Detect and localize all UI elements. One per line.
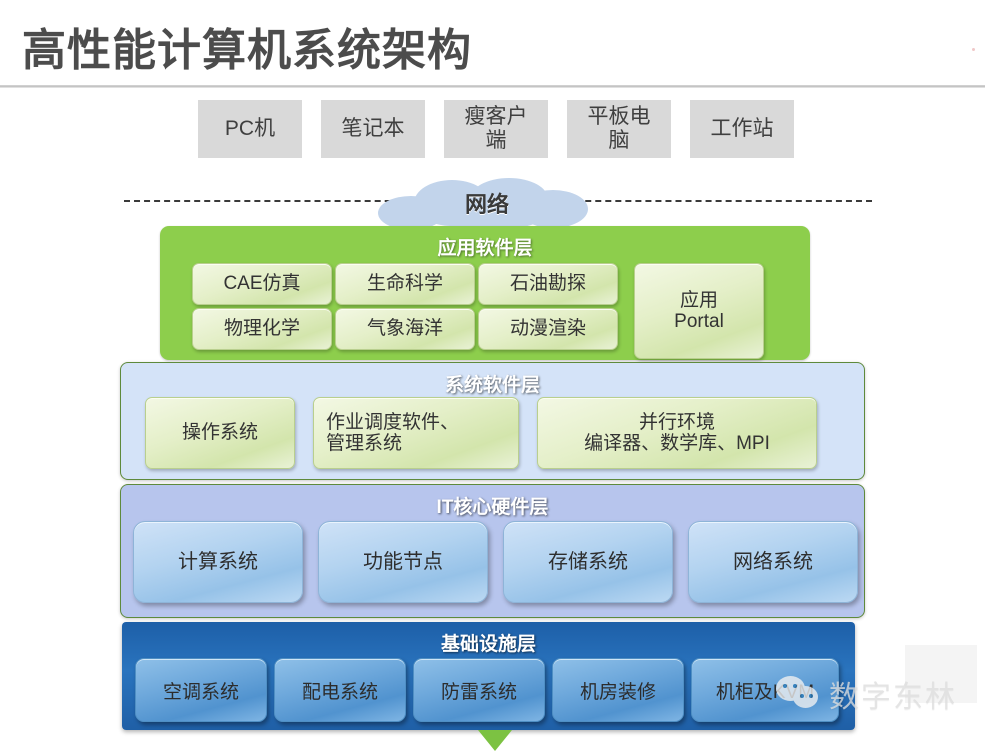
infrastructure-items: 空调系统 配电系统 防雷系统 机房装修 机柜及KVM	[135, 658, 839, 722]
layer-title: 系统软件层	[121, 363, 864, 397]
watermark: 数字东林	[776, 672, 957, 716]
portal-lines: 应用 Portal	[674, 290, 724, 333]
client-box-thin-client[interactable]: 瘦客户端	[444, 100, 548, 158]
down-arrow-icon	[478, 730, 512, 751]
hw-chip-function-node[interactable]: 功能节点	[318, 521, 488, 603]
layer-infrastructure[interactable]: 基础设施层 空调系统 配电系统 防雷系统 机房装修 机柜及KVM	[122, 622, 855, 730]
app-chip-oil-exploration[interactable]: 石油勘探	[478, 263, 618, 305]
client-device-row: PC机 笔记本 瘦客户端 平板电脑 工作站	[198, 100, 794, 158]
network-zone: 网络	[0, 178, 985, 230]
app-chip-physics-chemistry[interactable]: 物理化学	[192, 308, 332, 350]
infra-chip-power-distribution[interactable]: 配电系统	[274, 658, 406, 722]
client-label: 平板电脑	[588, 105, 651, 153]
infra-chip-hvac[interactable]: 空调系统	[135, 658, 267, 722]
title-bar: 高性能计算机系统架构	[0, 0, 985, 88]
layer-application-software[interactable]: 应用软件层 CAE仿真 生命科学 石油勘探 物理化学 气象海洋 动漫渲染 应用 …	[160, 226, 810, 360]
wechat-icon	[776, 674, 820, 714]
system-software-items: 操作系统 作业调度软件、 管理系统 并行环境 编译器、数学库、MPI	[145, 397, 817, 469]
client-label: 工作站	[711, 117, 774, 141]
watermark-text: 数字东林	[829, 672, 957, 716]
sys-chip-operating-system[interactable]: 操作系统	[145, 397, 295, 469]
client-label: PC机	[225, 117, 275, 141]
layer-title: IT核心硬件层	[121, 485, 864, 519]
infra-chip-lightning-protection[interactable]: 防雷系统	[413, 658, 545, 722]
hw-chip-compute-system[interactable]: 计算系统	[133, 521, 303, 603]
title-divider	[0, 85, 985, 88]
layer-title: 基础设施层	[122, 622, 855, 656]
app-chip-portal[interactable]: 应用 Portal	[634, 263, 764, 359]
client-label: 瘦客户端	[465, 105, 528, 153]
network-label: 网络	[378, 187, 596, 219]
application-items: CAE仿真 生命科学 石油勘探 物理化学 气象海洋 动漫渲染 应用 Portal	[192, 263, 764, 359]
hardware-items: 计算系统 功能节点 存储系统 网络系统	[133, 521, 858, 603]
cloud-icon: 网络	[378, 178, 596, 230]
client-label: 笔记本	[342, 117, 405, 141]
page-title: 高性能计算机系统架构	[22, 14, 472, 78]
client-box-laptop[interactable]: 笔记本	[321, 100, 425, 158]
layer-it-core-hardware[interactable]: IT核心硬件层 计算系统 功能节点 存储系统 网络系统	[120, 484, 865, 618]
layer-system-software[interactable]: 系统软件层 操作系统 作业调度软件、 管理系统 并行环境 编译器、数学库、MPI	[120, 362, 865, 480]
layer-title: 应用软件层	[160, 226, 810, 260]
infra-chip-room-fitout[interactable]: 机房装修	[552, 658, 684, 722]
hw-chip-network-system[interactable]: 网络系统	[688, 521, 858, 603]
client-box-tablet[interactable]: 平板电脑	[567, 100, 671, 158]
client-box-pc[interactable]: PC机	[198, 100, 302, 158]
sys-chip-job-scheduling[interactable]: 作业调度软件、 管理系统	[313, 397, 519, 469]
app-chip-meteorology-ocean[interactable]: 气象海洋	[335, 308, 475, 350]
app-chip-cae[interactable]: CAE仿真	[192, 263, 332, 305]
application-grid: CAE仿真 生命科学 石油勘探 物理化学 气象海洋 动漫渲染	[192, 263, 618, 350]
decorative-dot	[972, 48, 975, 51]
app-chip-animation-render[interactable]: 动漫渲染	[478, 308, 618, 350]
sys-chip-parallel-environment[interactable]: 并行环境 编译器、数学库、MPI	[537, 397, 817, 469]
client-box-workstation[interactable]: 工作站	[690, 100, 794, 158]
hw-chip-storage-system[interactable]: 存储系统	[503, 521, 673, 603]
app-chip-life-science[interactable]: 生命科学	[335, 263, 475, 305]
